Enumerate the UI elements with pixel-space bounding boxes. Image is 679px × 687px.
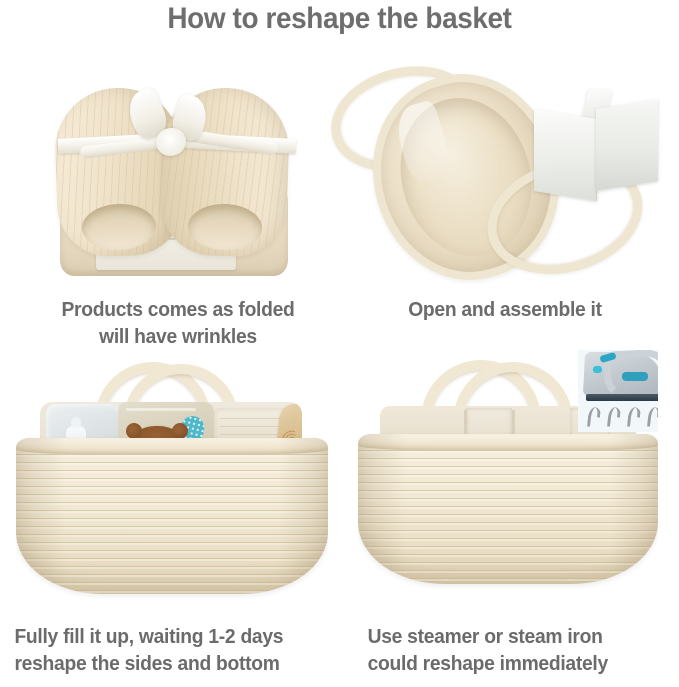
- step-2-image-open-basket: [326, 62, 666, 294]
- steam-squiggle: [647, 406, 658, 427]
- rolled-basket-illustration: [34, 66, 314, 291]
- step-3-image-filled-basket: [16, 358, 328, 608]
- iron-soleplate: [586, 394, 658, 401]
- step-4-image-empty-basket: [358, 350, 658, 606]
- bear-ear-right: [172, 423, 188, 439]
- steam-squiggle: [607, 406, 621, 427]
- removable-divider-insert: [534, 90, 660, 202]
- steam-squiggles: [578, 404, 658, 430]
- step-3-caption: Fully fill it up, waiting 1-2 days resha…: [14, 623, 341, 677]
- infographic-page: How to reshape the basket Products comes…: [0, 0, 679, 687]
- basket-shadow-left: [16, 438, 66, 594]
- page-title: How to reshape the basket: [24, 2, 655, 36]
- basket-shadow-left: [358, 434, 406, 584]
- rope-basket-body: [358, 434, 658, 584]
- step-1-caption: Products comes as folded will have wrink…: [37, 296, 319, 350]
- step-1-image-folded-basket: [34, 66, 314, 291]
- steam-squiggle: [587, 406, 601, 427]
- iron-control-bar: [622, 372, 648, 381]
- divider-back-panel: [596, 99, 658, 191]
- basket-shadow-right: [278, 438, 328, 594]
- steam-iron-icon: [578, 350, 658, 432]
- basket-shadow-right: [610, 434, 658, 584]
- iron-knob-side: [593, 366, 602, 373]
- step-4-caption: Use steamer or steam iron could reshape …: [368, 623, 669, 677]
- step-2-caption: Open and assemble it: [364, 296, 646, 323]
- steam-squiggle: [627, 406, 641, 427]
- rope-basket-body: [16, 438, 328, 594]
- bear-ear-left: [126, 423, 142, 439]
- divider-front-panel: [534, 109, 597, 201]
